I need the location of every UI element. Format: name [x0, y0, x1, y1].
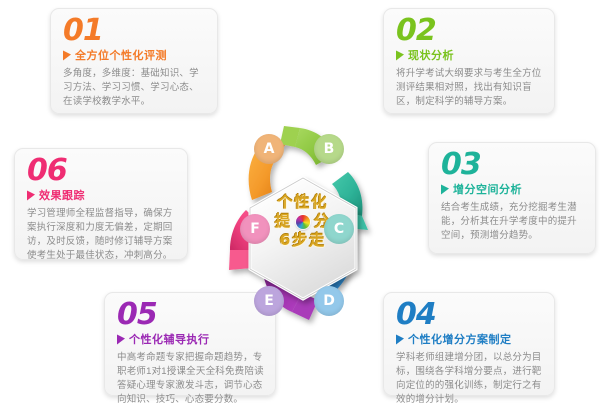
step-number-06: 06 — [27, 156, 177, 186]
step-title-row-04: 个性化增分方案制定 — [396, 331, 544, 347]
ribbon-graphic — [196, 100, 406, 350]
step-card-04[interactable]: 04 个性化增分方案制定 学科老师组建增分团，以总分为目标，围绕各学科增分要点，… — [383, 292, 555, 396]
infographic-canvas: 01 全方位个性化评测 多角度，多维度：基础知识、学习方法、学习习惯、学习心态、… — [0, 0, 600, 400]
step-card-01[interactable]: 01 全方位个性化评测 多角度，多维度：基础知识、学习方法、学习习惯、学习心态、… — [50, 8, 218, 114]
step-number-04: 04 — [396, 300, 544, 330]
step-title-row-06: 效果跟踪 — [27, 187, 177, 203]
step-card-02[interactable]: 02 现状分析 将升学考试大纲要求与考生全方位测评结果相对照，找出有知识盲区，制… — [383, 8, 555, 114]
badge-b[interactable]: B — [314, 134, 344, 164]
badge-c[interactable]: C — [324, 214, 354, 244]
step-body-05: 中高考命题专家把握命题趋势，专职老师1对1授课全天全科免费陪读答疑心理专家激发斗… — [117, 351, 265, 407]
step-title-01: 全方位个性化评测 — [75, 47, 167, 63]
step-number-03: 03 — [441, 150, 585, 180]
step-body-04: 学科老师组建增分团，以总分为目标，围绕各学科增分要点，进行靶向定位的的强化训练，… — [396, 351, 544, 407]
step-body-01: 多角度，多维度：基础知识、学习方法、学习习惯、学习心态、在读学校教学水平。 — [63, 67, 207, 109]
step-title-06: 效果跟踪 — [39, 187, 85, 203]
badge-d[interactable]: D — [314, 286, 344, 316]
center-diagram: 个性化 提 分 6步走 A B C D E F — [196, 100, 406, 350]
step-card-03[interactable]: 03 增分空间分析 结合考生成绩，充分挖掘考生潜能，分析其在升学考度中的提升空间… — [428, 142, 596, 254]
step-title-row-03: 增分空间分析 — [441, 181, 585, 197]
step-body-03: 结合考生成绩，充分挖掘考生潜能，分析其在升学考度中的提升空间，预测增分趋势。 — [441, 201, 585, 243]
step-body-02: 将升学考试大纲要求与考生全方位测评结果相对照，找出有知识盲区，制定科学的辅导方案… — [396, 67, 544, 109]
arrow-icon — [27, 189, 35, 200]
step-number-01: 01 — [63, 16, 207, 46]
step-title-04: 个性化增分方案制定 — [408, 331, 512, 347]
arrow-icon — [117, 333, 125, 344]
step-body-06: 学习管理师全程监督指导，确保方案执行深度和力度无偏差，定期回访，及时反馈，随时修… — [27, 207, 177, 263]
badge-a[interactable]: A — [254, 134, 284, 164]
step-title-02: 现状分析 — [408, 47, 454, 63]
arrow-icon — [396, 49, 404, 60]
badge-f[interactable]: F — [240, 214, 270, 244]
badge-e[interactable]: E — [254, 286, 284, 316]
arrow-icon — [63, 49, 71, 60]
arrow-icon — [441, 183, 449, 194]
step-card-06[interactable]: 06 效果跟踪 学习管理师全程监督指导，确保方案执行深度和力度无偏差，定期回访，… — [14, 148, 188, 260]
step-title-row-01: 全方位个性化评测 — [63, 47, 207, 63]
step-title-row-02: 现状分析 — [396, 47, 544, 63]
step-title-03: 增分空间分析 — [453, 181, 522, 197]
step-number-02: 02 — [396, 16, 544, 46]
